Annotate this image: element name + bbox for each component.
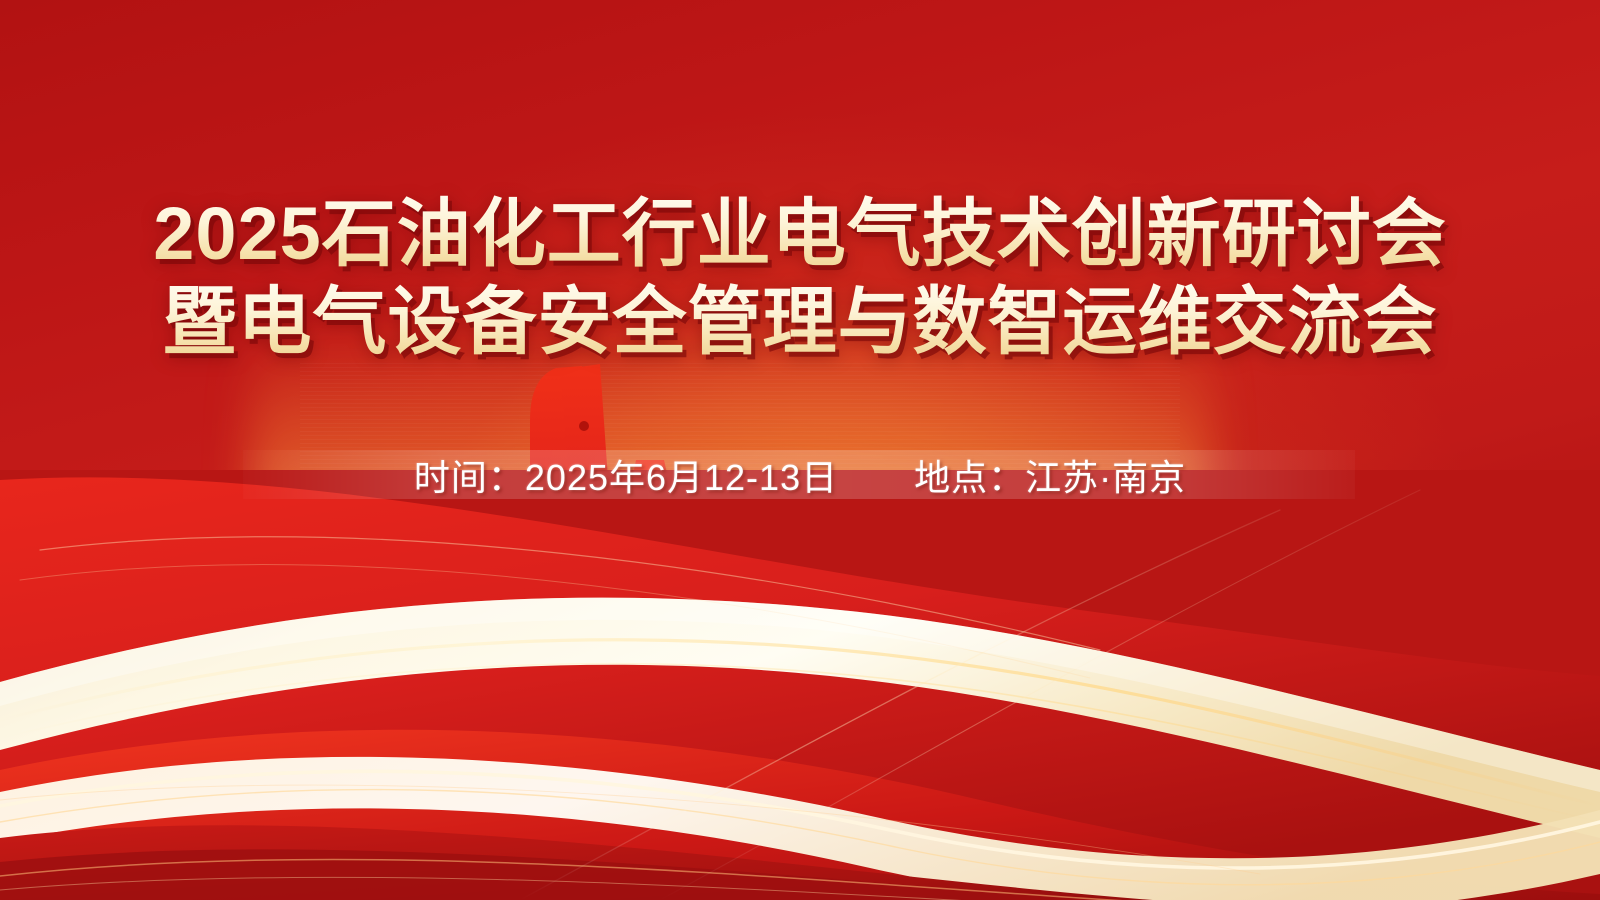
- flowing-wave-ribbons-icon: [0, 470, 1600, 900]
- title-line-1: 2025石油化工行业电气技术创新研讨会: [0, 190, 1600, 278]
- banner-title: 2025石油化工行业电气技术创新研讨会 暨电气设备安全管理与数智运维交流会: [0, 190, 1600, 366]
- title-line-2: 暨电气设备安全管理与数智运维交流会: [0, 278, 1600, 366]
- event-info: 时间：2025年6月12-13日 地点：江苏·南京: [0, 440, 1600, 510]
- event-venue: 地点：江苏·南京: [914, 449, 1186, 501]
- conference-banner: 2025石油化工行业电气技术创新研讨会 暨电气设备安全管理与数智运维交流会 时间…: [0, 0, 1600, 900]
- event-date: 时间：2025年6月12-13日: [414, 449, 838, 501]
